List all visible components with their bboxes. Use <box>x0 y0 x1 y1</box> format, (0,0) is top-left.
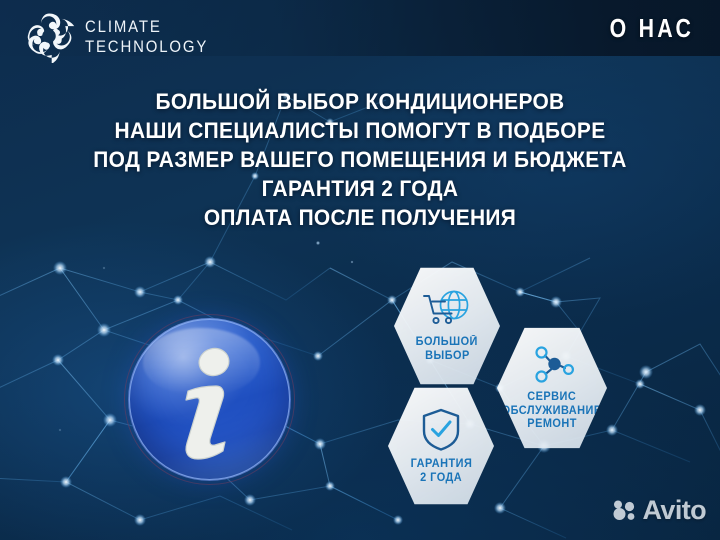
shield-check-icon <box>420 407 462 451</box>
information-sphere-icon <box>128 318 291 481</box>
background-network-mesh <box>0 0 720 540</box>
network-nodes-icon <box>529 344 575 384</box>
avito-dots-icon <box>612 500 638 522</box>
letter-i-glyph <box>128 318 291 481</box>
feature-label-choice-1: БОЛЬШОЙ <box>416 336 478 350</box>
avito-watermark: Avito <box>612 495 707 526</box>
brand-line-2: TECHNOLOGY <box>85 38 208 55</box>
feature-label-warranty-2: 2 ГОДА <box>420 472 462 486</box>
brand-wordmark: CLIMATE TECHNOLOGY <box>85 18 225 55</box>
headline-line-4: ГАРАНТИЯ 2 ГОДА <box>25 174 695 203</box>
headline-line-1: БОЛЬШОЙ ВЫБОР КОНДИЦИОНЕРОВ <box>25 87 695 116</box>
headline-line-5: ОПЛАТА ПОСЛЕ ПОЛУЧЕНИЯ <box>25 203 695 232</box>
headline-block: БОЛЬШОЙ ВЫБОР КОНДИЦИОНЕРОВ НАШИ СПЕЦИАЛ… <box>0 87 720 232</box>
shopping-cart-globe-icon <box>421 289 473 329</box>
feature-label-warranty-1: ГАРАНТИЯ <box>410 458 472 472</box>
feature-label-service-2: ОБСЛУЖИВАНИЕ <box>502 405 602 419</box>
headline-line-2: НАШИ СПЕЦИАЛИСТЫ ПОМОГУТ В ПОДБОРЕ <box>25 116 695 145</box>
brand-logo[interactable]: CLIMATE TECHNOLOGY <box>22 9 225 63</box>
avito-wordmark: Avito <box>643 495 707 526</box>
headline-line-3: ПОД РАЗМЕР ВАШЕГО ПОМЕЩЕНИЯ И БЮДЖЕТА <box>25 145 695 174</box>
feature-label-service-1: СЕРВИС <box>528 391 577 405</box>
brand-line-1: CLIMATE <box>85 18 208 35</box>
feature-label-service-3: РЕМОНТ <box>527 418 577 432</box>
fan-spiral-logo-icon <box>22 9 76 63</box>
feature-label-choice-2: ВЫБОР <box>425 350 470 364</box>
poster-canvas: CLIMATE TECHNOLOGY О НАС БОЛЬШОЙ ВЫБОР К… <box>0 0 720 540</box>
page-title: О НАС <box>609 13 694 44</box>
